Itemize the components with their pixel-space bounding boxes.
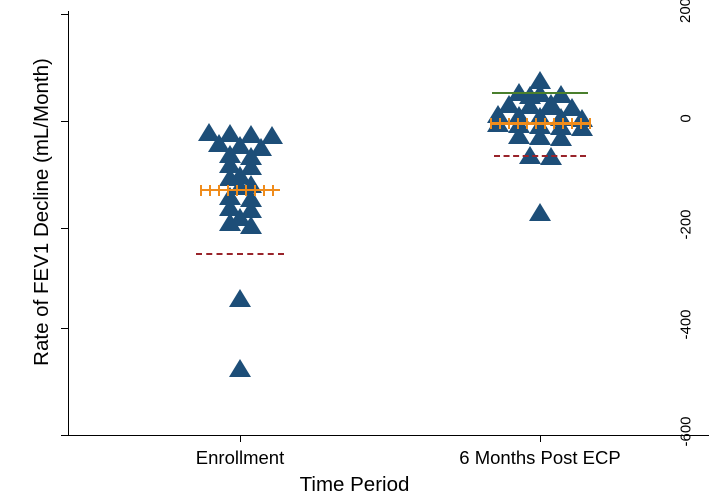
y-tick-mark	[61, 14, 68, 15]
y-tick-text: -200	[678, 209, 695, 239]
chart-figure: Rate of FEV1 Decline (mL/Month) 200 0 -2…	[0, 0, 709, 504]
x-tick-label-post-ecp: 6 Months Post ECP	[459, 447, 620, 469]
reference-dashed-line	[196, 253, 284, 255]
mean-marker-tick	[589, 118, 591, 129]
y-tick-text: -400	[678, 309, 695, 339]
y-tick-label-n200: -200	[663, 216, 709, 233]
x-tick-mark	[240, 435, 241, 442]
y-axis-title: Rate of FEV1 Decline (mL/Month)	[30, 2, 54, 422]
mean-marker-tick	[553, 118, 555, 129]
y-tick-mark	[61, 228, 68, 229]
mean-marker-tick	[200, 185, 202, 196]
data-point-triangle	[240, 216, 262, 234]
mean-marker-tick	[508, 118, 510, 129]
y-tick-mark	[61, 435, 68, 436]
data-point-triangle	[529, 127, 551, 145]
y-tick-label-n400: -400	[663, 316, 709, 333]
y-tick-text: 0	[678, 114, 695, 122]
y-tick-mark	[61, 121, 68, 122]
group-reference-line	[492, 92, 588, 94]
data-point-triangle	[229, 289, 251, 307]
y-axis-line	[68, 11, 69, 436]
mean-marker-tick	[490, 118, 492, 129]
mean-marker-tick	[254, 185, 256, 196]
mean-marker-tick	[272, 185, 274, 196]
y-tick-label-n600: -600	[663, 423, 709, 440]
mean-marker-tick	[218, 185, 220, 196]
x-axis-line	[68, 435, 709, 436]
mean-marker-line	[490, 122, 590, 124]
data-point-triangle	[550, 128, 572, 146]
data-point-triangle	[219, 213, 241, 231]
reference-dashed-line	[494, 155, 586, 157]
x-tick-label-enrollment: Enrollment	[196, 447, 284, 469]
y-tick-mark	[61, 328, 68, 329]
mean-marker-tick	[227, 185, 229, 196]
mean-marker-tick	[535, 118, 537, 129]
mean-marker-tick	[245, 185, 247, 196]
mean-marker-tick	[517, 118, 519, 129]
x-tick-mark	[540, 435, 541, 442]
mean-marker-tick	[562, 118, 564, 129]
mean-marker-tick	[526, 118, 528, 129]
mean-marker-line	[200, 189, 280, 191]
mean-marker-tick	[544, 118, 546, 129]
mean-marker-tick	[499, 118, 501, 129]
data-point-triangle	[229, 359, 251, 377]
mean-marker-tick	[571, 118, 573, 129]
mean-marker-tick	[580, 118, 582, 129]
mean-marker-tick	[209, 185, 211, 196]
data-point-triangle	[529, 203, 551, 221]
x-axis-title: Time Period	[0, 473, 709, 497]
mean-marker-tick	[236, 185, 238, 196]
y-tick-text: 200	[678, 0, 695, 23]
y-tick-label-0: 0	[663, 110, 709, 127]
y-tick-label-200: 200	[663, 2, 709, 19]
y-tick-text: -600	[678, 416, 695, 446]
mean-marker-tick	[263, 185, 265, 196]
